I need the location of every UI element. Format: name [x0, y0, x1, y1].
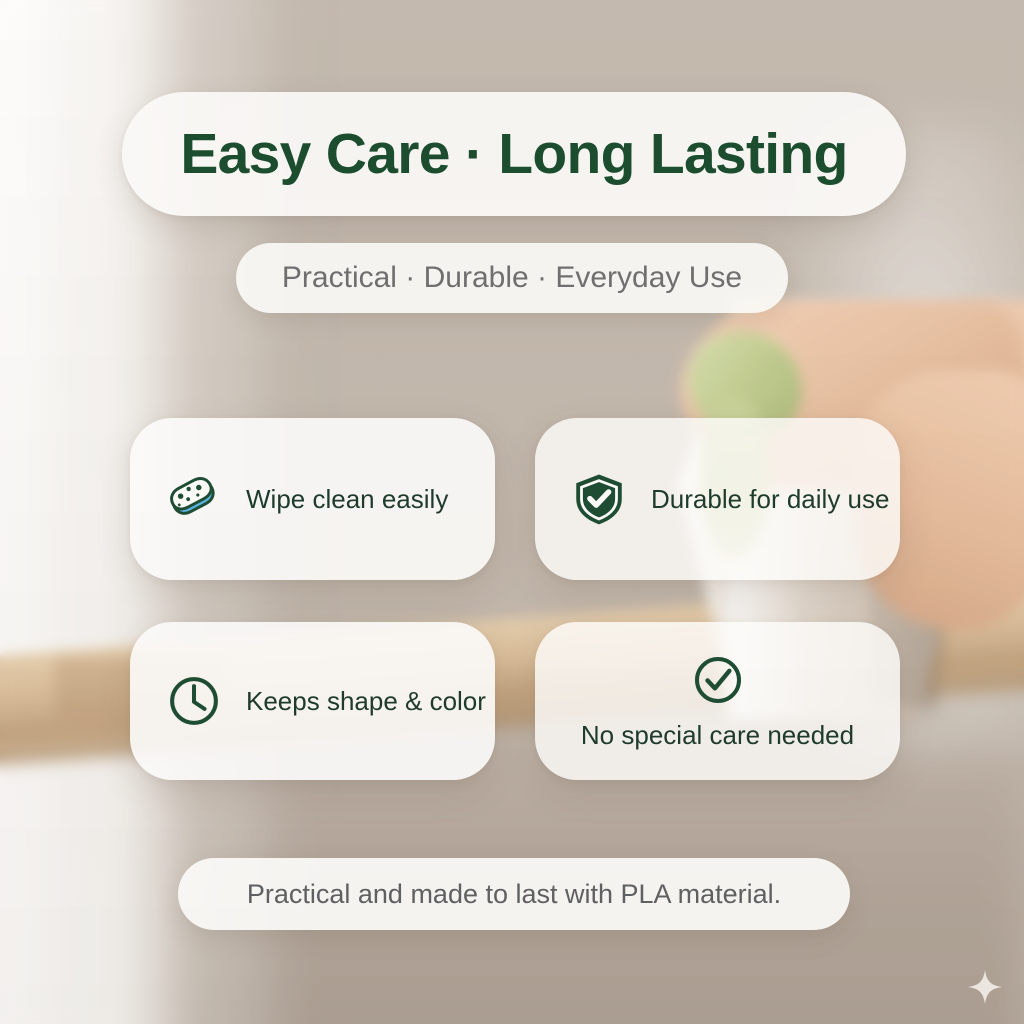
shield-check-icon: [571, 471, 627, 527]
poster-canvas: Easy Care · Long Lasting Practical · Dur…: [0, 0, 1024, 1024]
feature-card-durable[interactable]: Durable for daily use: [535, 418, 900, 580]
feature-label: No special care needed: [581, 720, 854, 751]
sparkle-icon: [968, 970, 1002, 1004]
feature-card-wipe-clean[interactable]: Wipe clean easily: [130, 418, 495, 580]
overlay-content: Easy Care · Long Lasting Practical · Dur…: [0, 0, 1024, 1024]
feature-card-no-special-care[interactable]: No special care needed: [535, 622, 900, 780]
sponge-icon: [166, 471, 222, 527]
footer-pill: Practical and made to last with PLA mate…: [178, 858, 850, 930]
feature-label: Durable for daily use: [651, 484, 889, 515]
feature-card-keeps-shape[interactable]: Keeps shape & color: [130, 622, 495, 780]
footer-text: Practical and made to last with PLA mate…: [247, 879, 781, 910]
feature-label: Keeps shape & color: [246, 686, 486, 717]
clock-icon: [166, 673, 222, 729]
check-circle-icon: [690, 652, 746, 708]
feature-label: Wipe clean easily: [246, 484, 448, 515]
